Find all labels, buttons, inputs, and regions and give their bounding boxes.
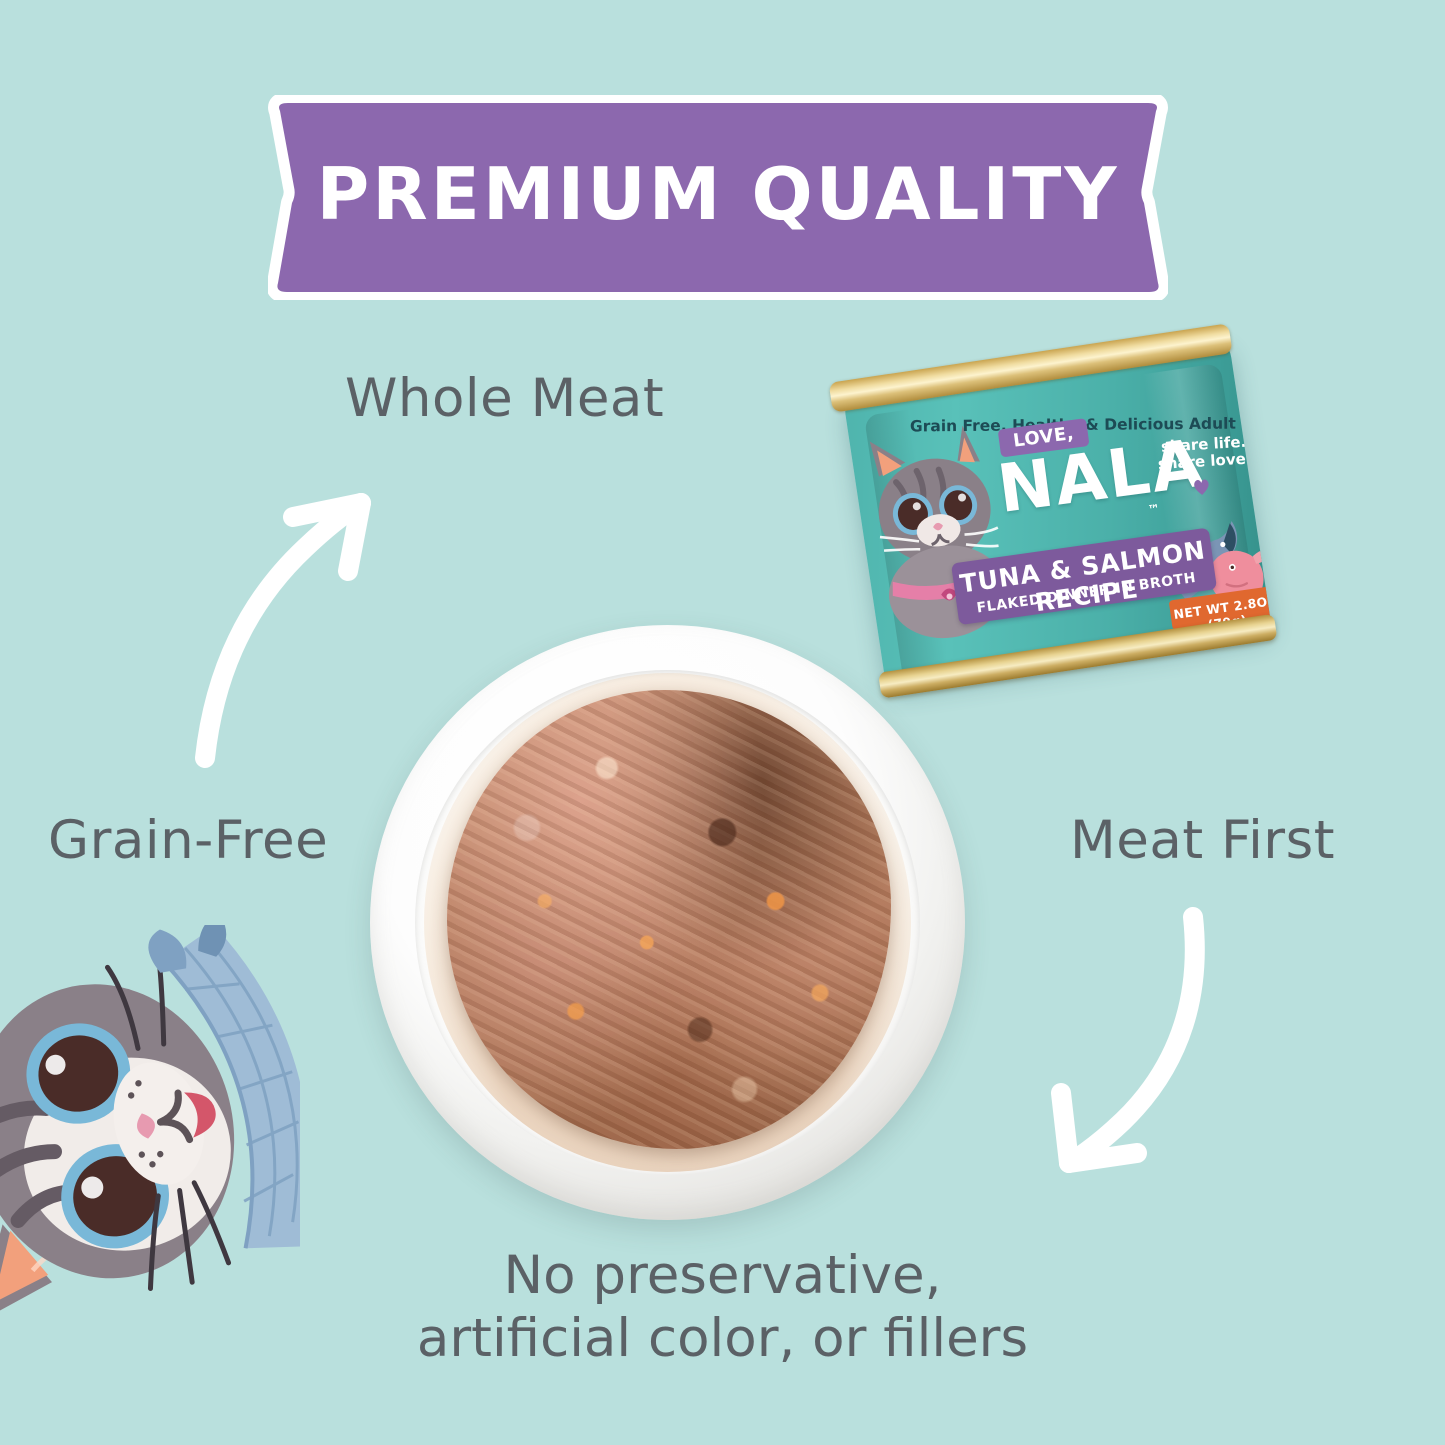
feature-label-grain-free: Grain-Free	[48, 810, 328, 871]
nala-cat-mascot	[0, 925, 300, 1325]
flaked-fish-food	[447, 690, 890, 1148]
feature-label-meat-first: Meat First	[1070, 810, 1335, 871]
banner-ribbon-shape	[268, 95, 1168, 300]
feature-label-whole-meat: Whole Meat	[345, 368, 664, 429]
can-trademark-symbol: ™	[1147, 501, 1161, 517]
can-slogan: share life. share love.	[1147, 433, 1261, 474]
premium-quality-banner: PREMIUM QUALITY	[268, 95, 1168, 300]
curved-arrow-up-right-icon	[175, 470, 395, 770]
curved-arrow-down-left-icon	[1015, 895, 1265, 1195]
heart-icon	[1191, 477, 1211, 496]
infographic-canvas: PREMIUM QUALITY Whole Meat Grain-Free Me…	[0, 0, 1445, 1445]
product-can: Grain Free, Healthy & Delicious Adult Ca…	[822, 316, 1288, 719]
